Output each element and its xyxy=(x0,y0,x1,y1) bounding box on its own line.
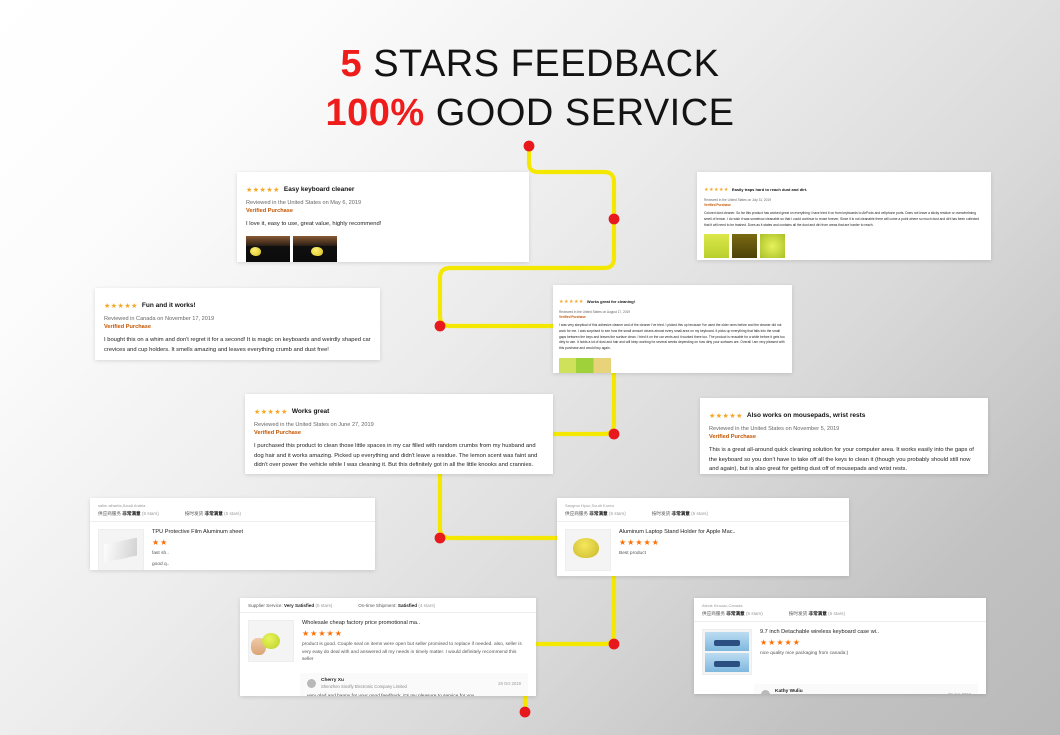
supplier-ratings: 供应商服务 非常满意 (5 stars) 按时发货 非常满意 (5 stars) xyxy=(565,511,841,517)
label-supplier-service: 供应商服务 xyxy=(565,511,588,516)
verified-purchase-badge: Verified Purchase xyxy=(709,434,979,440)
review-title: Works great for cleaning! xyxy=(587,299,635,304)
label-supplier-service: Supplier Service: xyxy=(248,603,283,608)
supplier-header: Sangmo Hyun,South Korea 供应商服务 非常满意 (5 st… xyxy=(557,498,849,522)
connector-dot-3 xyxy=(435,321,446,332)
review-body: I love it, easy to use, great value, hig… xyxy=(246,220,520,230)
review-meta: Reviewed in the United States on Novembe… xyxy=(709,426,979,432)
product-name[interactable]: TPU Protective Film Aluminum sheet xyxy=(152,529,367,535)
laptop-stand-thumb[interactable] xyxy=(565,529,611,571)
supplier-review-card-wholesale-promotional: Supplier Service: Very Satisfied (5 star… xyxy=(240,598,536,696)
shipment-count: (5 stars) xyxy=(691,511,708,516)
review-card-works-great: ★★★★★Works great Reviewed in the United … xyxy=(245,394,553,474)
review-body: Colored dust cleaner. So far this produc… xyxy=(704,211,984,228)
keyboard-case-thumb[interactable] xyxy=(702,629,752,675)
connector-dot-7 xyxy=(520,707,531,718)
verified-purchase-badge: Verified Purchase xyxy=(104,324,371,330)
label-supplier-service: 供应商服务 xyxy=(98,511,121,516)
heading-highlight-100: 100% xyxy=(325,92,424,134)
review-body: I bought this on a whim and don't regret… xyxy=(104,336,371,355)
supplier-product-row: TPU Protective Film Aluminum sheet ★★ fa… xyxy=(90,522,375,570)
review-card-fun-and-it-works: ★★★★★Fun and it works! Reviewed in Canad… xyxy=(95,288,380,360)
buyer-comment-1: fast sh.. xyxy=(152,550,367,558)
supplier-service-count: (5 stars) xyxy=(609,511,626,516)
shipment-value: 非常满意 xyxy=(671,511,689,516)
connector-dot-4 xyxy=(609,429,620,440)
heading-rest-2: GOOD SERVICE xyxy=(425,92,735,134)
product-star-rating-icon: ★★★★★ xyxy=(619,538,841,547)
connector-dot-5 xyxy=(435,533,446,544)
review-title: Fun and it works! xyxy=(142,302,196,309)
verified-purchase-badge: Verified Purchase xyxy=(246,208,520,214)
label-ontime-shipment: 按时发货 xyxy=(789,611,807,616)
shipment-count: (4 stars) xyxy=(418,603,435,608)
label-ontime-shipment: On-time Shipment: xyxy=(358,603,396,608)
supplier-product-row: 9.7 inch Detachable wireless keyboard ca… xyxy=(694,622,986,679)
tpu-sheet-thumb[interactable] xyxy=(98,529,144,570)
supplier-service-value: 非常满意 xyxy=(589,511,607,516)
supplier-service-count: (5 stars) xyxy=(315,603,332,608)
star-rating-icon: ★★★★★ xyxy=(704,188,729,193)
review-card-easily-traps-dust: ★★★★★Easily traps hard to reach dust and… xyxy=(697,172,991,260)
buyer-comment: Best product xyxy=(619,550,841,558)
supplier-ratings: Supplier Service: Very Satisfied (5 star… xyxy=(248,603,528,608)
buyer-country: Alexis Kirouac,Canada xyxy=(702,603,978,608)
gel-color-photo-1[interactable] xyxy=(559,358,611,373)
connector-dot-1 xyxy=(524,141,535,152)
supplier-reply: Kathy Wuliu Shenzhen Sinofly Electronic … xyxy=(754,684,978,694)
supplier-header: Supplier Service: Very Satisfied (5 star… xyxy=(240,598,536,613)
review-photos xyxy=(704,234,984,258)
review-title: Also works on mousepads, wrist rests xyxy=(747,412,865,419)
supplier-service-count: (5 stars) xyxy=(142,511,159,516)
product-star-rating-icon: ★★ xyxy=(152,538,367,547)
review-title: Works great xyxy=(292,408,329,415)
reply-date: 28 Oct 2019 xyxy=(498,681,521,686)
supplier-header: Alexis Kirouac,Canada 供应商服务 非常满意 (5 star… xyxy=(694,598,986,622)
label-ontime-shipment: 按时发货 xyxy=(652,511,670,516)
supplier-reply: Cherry Xu Shenzhen Sinofly Electronic Co… xyxy=(300,673,528,696)
keyboard-gel-photo-2[interactable] xyxy=(293,236,337,262)
heading-rest-1: STARS FEEDBACK xyxy=(362,43,719,85)
reviewer-name: Kathy Wuliu xyxy=(775,689,861,694)
buyer-comment: product is good. Couple seal on items we… xyxy=(302,641,528,664)
review-title: Easily traps hard to reach dust and dirt… xyxy=(732,187,807,192)
reviewer-name: Cherry Xu xyxy=(321,678,407,683)
gel-jar-photo-3[interactable] xyxy=(760,234,785,258)
connector-dot-2 xyxy=(609,214,620,225)
star-rating-icon: ★★★★★ xyxy=(104,303,138,310)
supplier-service-value: 非常满意 xyxy=(122,511,140,516)
heading-highlight-5: 5 xyxy=(341,43,363,85)
shipment-count: (5 stars) xyxy=(828,611,845,616)
supplier-service-value: Very Satisfied xyxy=(284,603,314,608)
review-body: I purchased this product to clean those … xyxy=(254,442,544,471)
review-photos xyxy=(559,358,786,373)
avatar xyxy=(761,690,770,694)
label-ontime-shipment: 按时发货 xyxy=(185,511,203,516)
heading-line-2: 100% GOOD SERVICE xyxy=(0,89,1060,138)
star-rating-icon: ★★★★★ xyxy=(559,300,584,305)
reviewer-org: Shenzhen Sinofly Electronic Company Limi… xyxy=(321,684,407,689)
shipment-count: (5 stars) xyxy=(224,511,241,516)
connector-dot-6 xyxy=(609,639,620,650)
supplier-ratings: 供应商服务 非常满意 (5 stars) 按时发货 非常满意 (5 stars) xyxy=(98,511,367,517)
shipment-value: 非常满意 xyxy=(808,611,826,616)
review-photos xyxy=(246,236,520,262)
buyer-comment: nice quality nice packaging from canada:… xyxy=(760,650,978,658)
reply-date: 28 Jun 2019 xyxy=(948,692,971,694)
supplier-ratings: 供应商服务 非常满意 (5 stars) 按时发货 非常满意 (5 stars) xyxy=(702,611,978,617)
gel-jar-photo-2[interactable] xyxy=(732,234,757,258)
product-name[interactable]: 9.7 inch Detachable wireless keyboard ca… xyxy=(760,629,978,635)
shipment-value: Satisfied xyxy=(398,603,417,608)
keyboard-gel-photo-1[interactable] xyxy=(246,236,290,262)
star-rating-icon: ★★★★★ xyxy=(254,409,288,416)
shipment-value: 非常满意 xyxy=(204,511,222,516)
verified-purchase-badge: Verified Purchase xyxy=(559,315,786,319)
page-title: 5 STARS FEEDBACK 100% GOOD SERVICE xyxy=(0,40,1060,139)
review-title: Easy keyboard cleaner xyxy=(284,186,354,193)
buyer-country: Sangmo Hyun,South Korea xyxy=(565,503,841,508)
supplier-header: salim alhartts,Saudi Arabia 供应商服务 非常满意 (… xyxy=(90,498,375,522)
reply-text: very glad and happy for your good feedba… xyxy=(307,694,521,696)
review-meta: Reviewed in the United States on July 31… xyxy=(704,198,984,202)
review-card-also-works-on-mousepads: ★★★★★Also works on mousepads, wrist rest… xyxy=(700,398,988,474)
supplier-service-count: (5 stars) xyxy=(746,611,763,616)
supplier-review-card-aluminum-laptop-stand: Sangmo Hyun,South Korea 供应商服务 非常满意 (5 st… xyxy=(557,498,849,576)
review-meta: Reviewed in Canada on November 17, 2019 xyxy=(104,316,371,322)
supplier-product-row: Wholesale cheap factory price promotiona… xyxy=(240,613,536,668)
supplier-product-row: Aluminum Laptop Stand Holder for Apple M… xyxy=(557,522,849,575)
heading-line-1: 5 STARS FEEDBACK xyxy=(0,40,1060,89)
star-rating-icon: ★★★★★ xyxy=(246,187,280,194)
supplier-review-card-keyboard-case: Alexis Kirouac,Canada 供应商服务 非常满意 (5 star… xyxy=(694,598,986,694)
label-supplier-service: 供应商服务 xyxy=(702,611,725,616)
gel-jar-photo-1[interactable] xyxy=(704,234,729,258)
review-card-dense-review: ★★★★★Works great for cleaning! Reviewed … xyxy=(553,285,792,373)
hand-gel-thumb[interactable] xyxy=(248,620,294,662)
supplier-review-card-tpu-protector: salim alhartts,Saudi Arabia 供应商服务 非常满意 (… xyxy=(90,498,375,570)
product-star-rating-icon: ★★★★★ xyxy=(760,638,978,647)
buyer-comment-2: good q.. xyxy=(152,561,367,569)
star-rating-icon: ★★★★★ xyxy=(709,413,743,420)
review-meta: Reviewed in the United States on August … xyxy=(559,310,786,314)
verified-purchase-badge: Verified Purchase xyxy=(704,203,984,207)
supplier-service-value: 非常满意 xyxy=(726,611,744,616)
review-card-easy-keyboard-cleaner: ★★★★★Easy keyboard cleaner Reviewed in t… xyxy=(237,172,529,262)
product-name[interactable]: Aluminum Laptop Stand Holder for Apple M… xyxy=(619,529,841,535)
buyer-country: salim alhartts,Saudi Arabia xyxy=(98,503,367,508)
review-body: I was very skeptical of this adhesive cl… xyxy=(559,323,786,352)
review-body: This is a great all-around quick cleanin… xyxy=(709,446,979,474)
product-star-rating-icon: ★★★★★ xyxy=(302,629,528,638)
review-meta: Reviewed in the United States on June 27… xyxy=(254,422,544,428)
verified-purchase-badge: Verified Purchase xyxy=(254,430,544,436)
avatar xyxy=(307,679,316,688)
product-name[interactable]: Wholesale cheap factory price promotiona… xyxy=(302,620,528,626)
review-meta: Reviewed in the United States on May 6, … xyxy=(246,200,520,206)
